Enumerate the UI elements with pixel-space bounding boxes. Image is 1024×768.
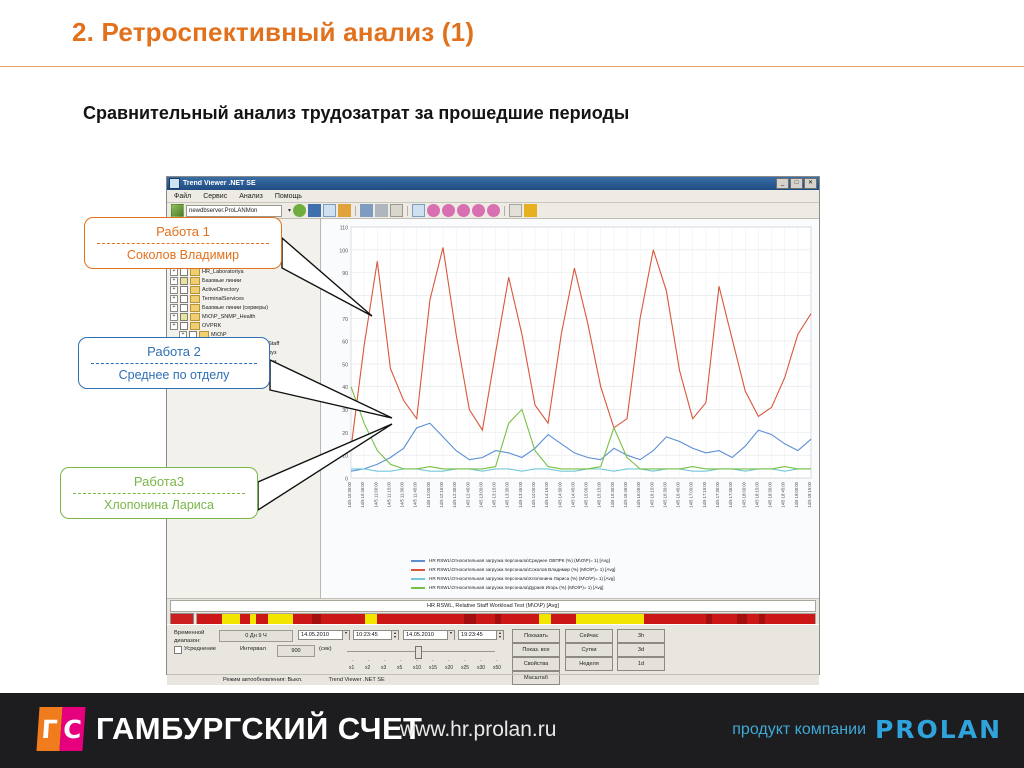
- x-axis-tick: 14/5 19:00:00: [794, 481, 799, 507]
- legend-label: HR RSWL\Относительная загрузка персонала…: [429, 576, 615, 581]
- y-axis-tick: 80: [342, 294, 348, 300]
- y-axis-tick: 0: [345, 477, 348, 483]
- zoom-tick: x25: [461, 665, 469, 671]
- tree-checkbox[interactable]: [180, 295, 188, 303]
- zoom-tick: x5: [397, 665, 402, 671]
- zoom-tick: x30: [477, 665, 485, 671]
- status-bar: Режим автообновления: Выкл. Trend Viewer…: [167, 674, 819, 685]
- tree-item[interactable]: +Базовые линии (серверы): [170, 303, 320, 312]
- zoom-tick-mark: ·: [400, 658, 402, 664]
- logo-letter-g: Г: [36, 707, 62, 751]
- range-label-2: диапазон:: [174, 638, 201, 644]
- server-combo[interactable]: newdbserver.ProLANMon: [186, 205, 282, 217]
- menu-item-analysis[interactable]: Анализ: [239, 193, 263, 200]
- menu-bar[interactable]: Файл Сервис Анализ Помощь: [167, 190, 819, 203]
- chevron-down-icon[interactable]: ▾: [288, 207, 291, 214]
- date-to-field[interactable]: 14.05.2010 ▾: [403, 630, 455, 640]
- x-axis-tick: 14/5 11:30:00: [400, 481, 405, 507]
- callout-rabota-3: Работа3 Хлопонина Лариса: [60, 467, 258, 519]
- callout-3-title: Работа3: [69, 473, 249, 490]
- y-axis-tick: 50: [342, 362, 348, 368]
- status-segment: [321, 614, 364, 624]
- app-body: +HR-DSK+HR-PT+HR-IT_Marketing+Switch+DSK…: [167, 219, 819, 598]
- x-axis-tick: 14/5 18:15:00: [754, 481, 759, 507]
- x-axis-tick: 14/5 10:30:00: [347, 481, 352, 507]
- x-axis-tick: 14/5 16:30:00: [662, 481, 667, 507]
- tree-item[interactable]: +M\O\P_SNMP_Health: [170, 312, 320, 321]
- zoom-tick-mark: ·: [480, 658, 482, 664]
- folder-icon: [190, 277, 200, 285]
- time-to-field[interactable]: 19:23:45 ▴▾: [458, 630, 504, 640]
- status-chart-title: HR RSWL, Relative Staff Workload Test (M…: [170, 600, 816, 612]
- legend-item: HR RSWL\Относительная загрузка персонала…: [411, 565, 741, 574]
- folder-icon: [190, 304, 200, 312]
- tree-checkbox[interactable]: [180, 277, 188, 285]
- time-to-value: 19:23:45: [461, 630, 483, 640]
- help-icon[interactable]: [524, 204, 537, 217]
- legend-label: HR RSWL\Относительная загрузка персонала…: [429, 558, 610, 563]
- legend-swatch: [411, 578, 425, 580]
- tree-expand-icon[interactable]: +: [170, 313, 178, 321]
- show-all-button[interactable]: Показ. все: [512, 643, 560, 657]
- show-button[interactable]: Показать: [512, 629, 560, 643]
- x-axis-tick: 14/5 17:15:00: [702, 481, 707, 507]
- time-from-stepper[interactable]: ▴▾: [391, 631, 398, 640]
- callout-1-subtitle: Соколов Владимир: [93, 247, 273, 263]
- legend-item: HR RSWL\Относительная загрузка персонала…: [411, 556, 741, 565]
- tree-item-label: OVPRK: [202, 323, 221, 329]
- zoom-tick-mark: ·: [352, 658, 354, 664]
- legend-item: HR RSWL\Относительная загрузка персонала…: [411, 583, 741, 592]
- status-segment: [293, 614, 312, 624]
- x-axis-tick: 14/5 18:00:00: [741, 481, 746, 507]
- tree-item-label: ActiveDirectory: [202, 287, 239, 293]
- zoom-tick: x2: [365, 665, 370, 671]
- x-axis-tick: 14/5 14:00:00: [531, 481, 536, 507]
- y-axis-tick: 90: [342, 271, 348, 277]
- callout-2-divider: [91, 363, 257, 364]
- control-panel[interactable]: Временной диапазон: 0 Дн 9 Ч 14.05.2010 …: [167, 624, 819, 685]
- range-value: 0 Дн 9 Ч: [219, 630, 293, 642]
- zoom-tick: x1: [349, 665, 354, 671]
- zoom-tick: x20: [445, 665, 453, 671]
- callout-3-subtitle: Хлопонина Лариса: [69, 497, 249, 513]
- marker-4-icon[interactable]: [472, 204, 485, 217]
- x-axis-tick: 14/5 11:00:00: [373, 481, 378, 507]
- tree-item-label: Базовые линии (серверы): [202, 305, 268, 311]
- tree-checkbox[interactable]: [180, 322, 188, 330]
- tree-checkbox[interactable]: [180, 304, 188, 312]
- y-axis-tick: 60: [342, 340, 348, 346]
- marker-5-icon[interactable]: [487, 204, 500, 217]
- x-axis-tick: 14/5 11:15:00: [386, 481, 391, 507]
- tree-item[interactable]: +TerminalServices: [170, 294, 320, 303]
- legend-label: HR RSWL\Относительная загрузка персонала…: [429, 567, 615, 572]
- object-tree[interactable]: +HR-DSK+HR-PT+HR-IT_Marketing+Switch+DSK…: [167, 219, 321, 598]
- y-axis-tick: 20: [342, 431, 348, 437]
- folder-icon: [190, 322, 200, 330]
- tree-expand-icon[interactable]: +: [170, 304, 178, 312]
- status-segment: [365, 614, 377, 624]
- x-axis-tick: 14/5 10:45:00: [360, 481, 365, 507]
- status-segment: [501, 614, 538, 624]
- x-axis-tick: 14/5 18:45:00: [781, 481, 786, 507]
- status-segment: [240, 614, 249, 624]
- range-label-1: Временной: [174, 630, 204, 636]
- export-icon[interactable]: [338, 204, 351, 217]
- menu-item-help[interactable]: Помощь: [275, 193, 302, 200]
- toolbar-separator-3: [504, 206, 505, 216]
- chart-canvas[interactable]: 010203040506070809010011014/5 10:30:0014…: [321, 219, 819, 598]
- status-segment: [197, 614, 222, 624]
- status-segment: [256, 614, 268, 624]
- marker-2-icon[interactable]: [442, 204, 455, 217]
- refresh-icon[interactable]: [293, 204, 306, 217]
- interval-value[interactable]: 900: [277, 645, 315, 657]
- zoom-tick-mark: ·: [368, 658, 370, 664]
- status-segment: [476, 614, 495, 624]
- day-button[interactable]: Сутки: [565, 643, 613, 657]
- folder-icon: [190, 286, 200, 294]
- interval-label: Интервал: [240, 646, 266, 652]
- x-axis-tick: 14/5 13:15:00: [492, 481, 497, 507]
- tree-expand-icon[interactable]: +: [170, 322, 178, 330]
- y-axis-tick: 110: [340, 226, 348, 232]
- time-from-value: 10:23:45: [356, 630, 378, 640]
- status-segment: [747, 614, 759, 624]
- zoom-tick-mark: ·: [448, 658, 450, 664]
- page-title: 2. Ретроспективный анализ (1): [72, 17, 474, 48]
- workload-status-area: HR RSWL, Relative Staff Workload Test (M…: [167, 598, 819, 624]
- maximize-button[interactable]: □: [790, 178, 803, 189]
- zoom-tick: x10: [413, 665, 421, 671]
- x-axis-tick: 14/5 13:30:00: [505, 481, 510, 507]
- menu-item-service[interactable]: Сервис: [203, 193, 227, 200]
- app-icon: [169, 178, 180, 189]
- gamburgsky-logo: Г С: [36, 707, 85, 751]
- folder-icon: [190, 313, 200, 321]
- brand-name: ГАМБУРГСКИЙ СЧЕТ: [96, 711, 422, 747]
- zoom-tick: x3: [381, 665, 386, 671]
- callout-1-divider: [97, 243, 269, 244]
- tree-expand-icon[interactable]: +: [170, 295, 178, 303]
- x-axis-tick: 14/5 13:00:00: [478, 481, 483, 507]
- save-icon[interactable]: [308, 204, 321, 217]
- x-axis-tick: 14/5 12:15:00: [439, 481, 444, 507]
- status-segment: [644, 614, 706, 624]
- trend-chart[interactable]: 010203040506070809010011014/5 10:30:0014…: [321, 219, 819, 598]
- status-appname: Trend Viewer .NET SE: [329, 677, 385, 683]
- status-segment: [377, 614, 464, 624]
- zoom-tick-mark: ·: [464, 658, 466, 664]
- minimize-button[interactable]: _: [776, 178, 789, 189]
- folder-icon: [190, 295, 200, 303]
- status-segment: [222, 614, 241, 624]
- status-autorefresh: Режим автообновления: Выкл.: [223, 677, 303, 683]
- marker-1-icon[interactable]: [427, 204, 440, 217]
- y-axis-tick: 10: [342, 454, 348, 460]
- x-axis-tick: 14/5 15:15:00: [597, 481, 602, 507]
- tree-item[interactable]: +OVPRK: [170, 321, 320, 330]
- tree-item[interactable]: +ActiveDirectory: [170, 285, 320, 294]
- x-axis-tick: 14/5 12:45:00: [465, 481, 470, 507]
- y-axis-tick: 70: [342, 317, 348, 323]
- callout-rabota-1: Работа 1 Соколов Владимир: [84, 217, 282, 269]
- x-axis-tick: 14/5 11:45:00: [413, 481, 418, 507]
- chart-legend: HR RSWL\Относительная загрузка персонала…: [411, 556, 741, 592]
- tree-item-label: HR_Laboratoriya: [202, 269, 244, 275]
- chart-pane[interactable]: 010203040506070809010011014/5 10:30:0014…: [321, 219, 819, 598]
- marker-3-icon[interactable]: [457, 204, 470, 217]
- tree-checkbox[interactable]: [180, 313, 188, 321]
- chart-page-icon[interactable]: [390, 204, 403, 217]
- website-url: www.hr.prolan.ru: [400, 718, 556, 742]
- x-axis-tick: 14/5 17:45:00: [728, 481, 733, 507]
- status-segment: [464, 614, 476, 624]
- status-segment: [312, 614, 321, 624]
- prolan-logo: PROLAN: [875, 715, 1002, 744]
- time-from-field[interactable]: 10:23:45 ▴▾: [353, 630, 399, 640]
- legend-swatch: [411, 569, 425, 571]
- x-axis-tick: 14/5 14:30:00: [557, 481, 562, 507]
- window-titlebar: Trend Viewer .NET SE _ □ ✕: [167, 177, 819, 190]
- callout-3-divider: [73, 493, 245, 494]
- y-axis-tick: 40: [342, 385, 348, 391]
- date-from-value: 14.05.2010: [301, 630, 329, 640]
- date-from-field[interactable]: 14.05.2010 ▾: [298, 630, 350, 640]
- legend-item: HR RSWL\Относительная загрузка персонала…: [411, 574, 741, 583]
- status-segment: [551, 614, 576, 624]
- zoom-tick: x15: [429, 665, 437, 671]
- product-of-label: продукт компании: [732, 721, 866, 739]
- x-axis-tick: 14/5 12:30:00: [452, 481, 457, 507]
- tree-item-label: Базовые линии: [202, 278, 241, 284]
- x-axis-tick: 14/5 19:15:00: [807, 481, 812, 507]
- range-1d-button[interactable]: 1d: [617, 657, 665, 671]
- zoom-tick-mark: ·: [496, 658, 498, 664]
- chart-area-icon[interactable]: [375, 204, 388, 217]
- window-buttons[interactable]: _ □ ✕: [776, 178, 817, 189]
- interval-units: (сек): [319, 646, 332, 652]
- toolbar-separator: [355, 206, 356, 216]
- x-axis-tick: 14/5 14:15:00: [544, 481, 549, 507]
- status-segment: [268, 614, 293, 624]
- page-subtitle: Сравнительный анализ трудозатрат за прош…: [83, 103, 629, 124]
- toolbar-separator-2: [407, 206, 408, 216]
- tree-expand-icon[interactable]: +: [170, 277, 178, 285]
- window-title: Trend Viewer .NET SE: [183, 180, 776, 187]
- averaging-checkbox[interactable]: [174, 646, 182, 654]
- callout-1-title: Работа 1: [93, 223, 273, 240]
- date-to-value: 14.05.2010: [406, 630, 434, 640]
- tree-item[interactable]: +Базовые линии: [170, 276, 320, 285]
- menu-item-file[interactable]: Файл: [174, 193, 191, 200]
- zoom-icon[interactable]: [323, 204, 336, 217]
- x-axis-tick: 14/5 16:15:00: [649, 481, 654, 507]
- x-axis-tick: 14/5 17:30:00: [715, 481, 720, 507]
- time-to-stepper[interactable]: ▴▾: [496, 631, 503, 640]
- date-from-dropdown-icon[interactable]: ▾: [342, 631, 349, 640]
- x-axis-tick: 14/5 14:45:00: [570, 481, 575, 507]
- marker-active-icon[interactable]: [412, 204, 425, 217]
- y-axis-tick: 30: [342, 408, 348, 414]
- tree-item-label: M\O\P_SNMP_Health: [202, 314, 256, 320]
- tree-expand-icon[interactable]: +: [170, 286, 178, 294]
- tree-item-label: TerminalServices: [202, 296, 244, 302]
- callout-2-title: Работа 2: [87, 343, 261, 360]
- callout-rabota-2: Работа 2 Среднее по отделу: [78, 337, 270, 389]
- week-button[interactable]: Неделя: [565, 657, 613, 671]
- legend-label: HR RSWL\Относительная загрузка персонала…: [429, 585, 603, 590]
- now-button[interactable]: Сейчас: [565, 629, 613, 643]
- range-3d-button[interactable]: 3d: [617, 643, 665, 657]
- range-3h-button[interactable]: 3h: [617, 629, 665, 643]
- grid-icon[interactable]: [509, 204, 522, 217]
- logo-letter-s: С: [59, 707, 85, 751]
- status-segment: [576, 614, 644, 624]
- tree-checkbox[interactable]: [180, 286, 188, 294]
- x-axis-tick: 14/5 15:45:00: [623, 481, 628, 507]
- x-axis-tick: 14/5 16:45:00: [676, 481, 681, 507]
- connect-icon[interactable]: [171, 204, 184, 217]
- status-segment: [712, 614, 737, 624]
- chart-bar-icon[interactable]: [360, 204, 373, 217]
- callout-2-subtitle: Среднее по отделу: [87, 367, 261, 383]
- zoom-tick-mark: ·: [416, 658, 418, 664]
- legend-swatch: [411, 560, 425, 562]
- x-axis-tick: 14/5 12:00:00: [426, 481, 431, 507]
- close-button[interactable]: ✕: [804, 178, 817, 189]
- x-axis-tick: 14/5 15:00:00: [584, 481, 589, 507]
- title-divider: [0, 66, 1024, 67]
- status-segment: [737, 614, 746, 624]
- properties-button[interactable]: Свойства: [512, 657, 560, 671]
- x-axis-tick: 14/5 18:30:00: [768, 481, 773, 507]
- slide-footer: Г С ГАМБУРГСКИЙ СЧЕТ www.hr.prolan.ru пр…: [0, 693, 1024, 768]
- date-to-dropdown-icon[interactable]: ▾: [447, 631, 454, 640]
- y-axis-tick: 100: [339, 248, 348, 254]
- x-axis-tick: 14/5 15:30:00: [610, 481, 615, 507]
- x-axis-tick: 14/5 13:45:00: [518, 481, 523, 507]
- zoom-tick: x50: [493, 665, 501, 671]
- status-segment: [539, 614, 551, 624]
- averaging-label: Усреднение: [184, 646, 216, 652]
- legend-swatch: [411, 587, 425, 589]
- x-axis-tick: 14/5 16:00:00: [636, 481, 641, 507]
- zoom-tick-mark: ·: [432, 658, 434, 664]
- x-axis-tick: 14/5 17:00:00: [689, 481, 694, 507]
- status-segment: [765, 614, 815, 624]
- zoom-tick-mark: ·: [384, 658, 386, 664]
